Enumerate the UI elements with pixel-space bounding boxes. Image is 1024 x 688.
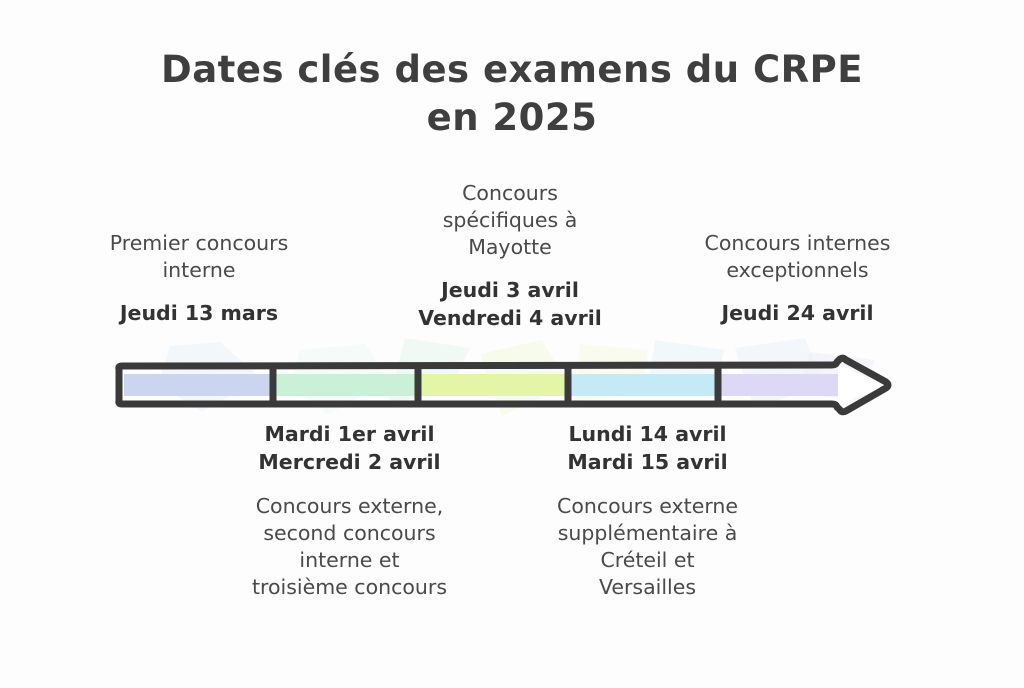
event-label-premier-concours-interne: Premier concours interne Jeudi 13 mars bbox=[74, 230, 324, 327]
timeline-segment-5 bbox=[721, 374, 838, 396]
timeline-arrow bbox=[110, 352, 900, 418]
event-label-concours-externe-second-troisieme: Mardi 1er avril Mercredi 2 avril Concour… bbox=[222, 420, 477, 601]
event-dates: Mardi 1er avril Mercredi 2 avril bbox=[222, 420, 477, 476]
event-description: Concours externe, second concours intern… bbox=[222, 493, 477, 601]
event-dates: Jeudi 24 avril bbox=[665, 299, 930, 327]
event-description: Concours spécifiques à Mayotte bbox=[375, 180, 645, 261]
title-line-1: Dates clés des examens du CRPE bbox=[161, 48, 863, 91]
timeline-segment-1 bbox=[124, 374, 270, 396]
page-title: Dates clés des examens du CRPE en 2025 bbox=[0, 46, 1024, 142]
title-line-2: en 2025 bbox=[0, 94, 1024, 142]
event-description: Premier concours interne bbox=[74, 230, 324, 284]
event-label-concours-specifiques-mayotte: Concours spécifiques à Mayotte Jeudi 3 a… bbox=[375, 180, 645, 332]
event-description: Concours externe supplémentaire à Crétei… bbox=[520, 493, 775, 601]
timeline-segments bbox=[124, 364, 882, 406]
infographic-canvas: Dates clés des examens du CRPE en 2025 bbox=[0, 0, 1024, 688]
timeline-segment-2 bbox=[276, 374, 415, 396]
event-label-concours-externe-supplementaire: Lundi 14 avril Mardi 15 avril Concours e… bbox=[520, 420, 775, 601]
event-dates: Lundi 14 avril Mardi 15 avril bbox=[520, 420, 775, 476]
event-dates: Jeudi 13 mars bbox=[74, 299, 324, 327]
timeline-segment-4 bbox=[571, 374, 715, 396]
event-dates: Jeudi 3 avril Vendredi 4 avril bbox=[375, 276, 645, 332]
timeline-segment-3 bbox=[421, 374, 565, 396]
event-description: Concours internes exceptionnels bbox=[665, 230, 930, 284]
event-label-concours-internes-exceptionnels: Concours internes exceptionnels Jeudi 24… bbox=[665, 230, 930, 327]
